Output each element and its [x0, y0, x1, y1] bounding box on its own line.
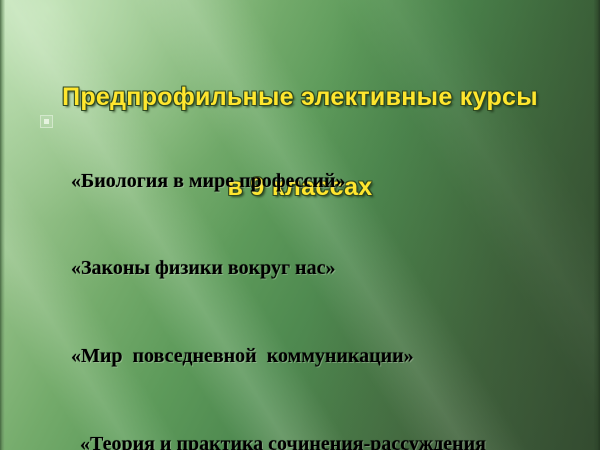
course-line-2: «Законы физики вокруг нас»: [71, 254, 582, 283]
course-list-text: «Биология в мире профессий» «Законы физи…: [71, 108, 582, 450]
course-line-1: «Биология в мире профессий»: [71, 167, 582, 196]
course-list: «Биология в мире профессий» «Законы физи…: [40, 108, 582, 450]
presentation-slide: Предпрофильные элективные курсы в 9 клас…: [0, 0, 600, 450]
square-bullet-icon: [40, 115, 53, 128]
course-line-3: «Мир повседневной коммуникации»: [71, 342, 582, 371]
course-line-4: «Теория и практика сочинения-рассуждения: [71, 430, 582, 450]
